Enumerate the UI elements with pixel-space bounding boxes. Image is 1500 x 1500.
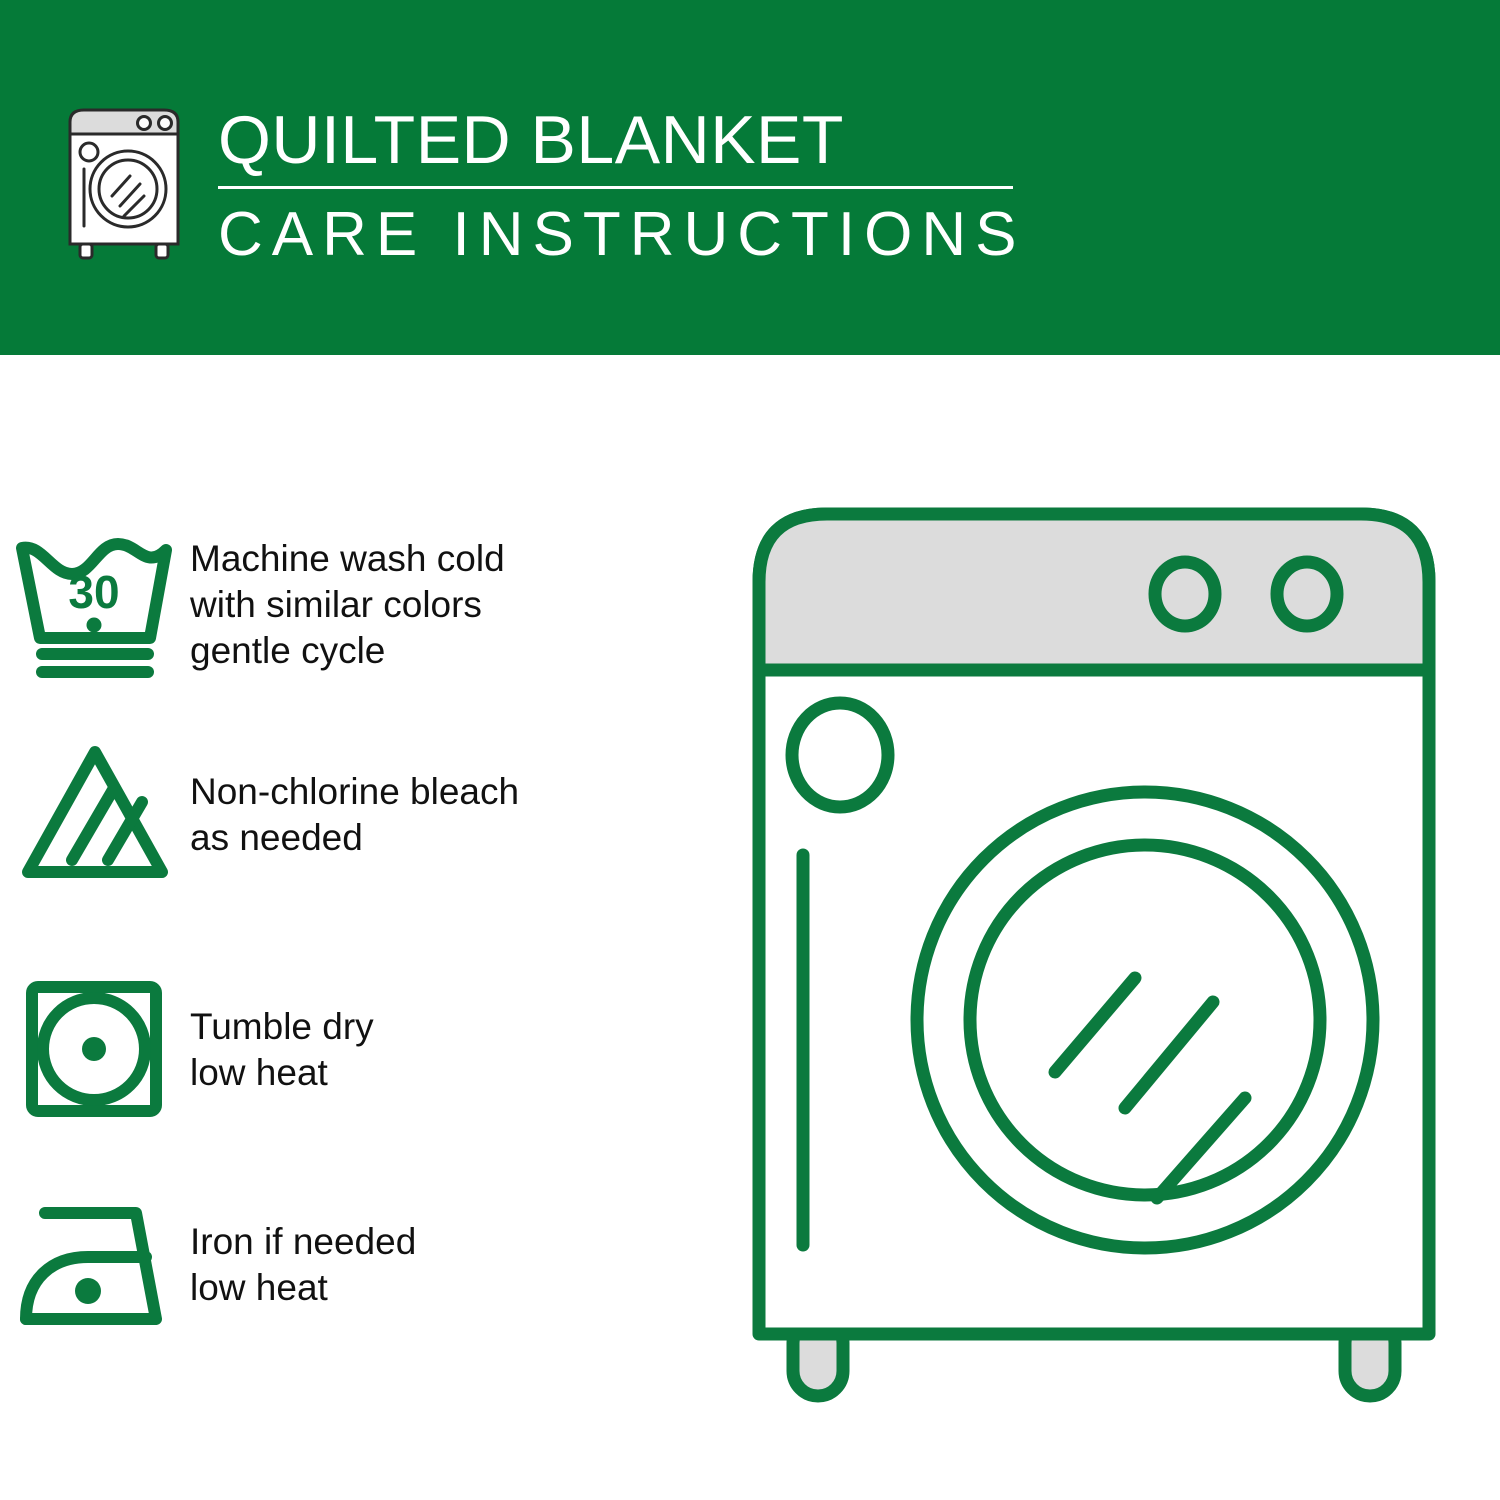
wash-temperature-value: 30 [68, 566, 119, 618]
washing-machine-icon [62, 104, 192, 264]
care-instructions-page: QUILTED BLANKET CARE INSTRUCTIONS 30 [0, 0, 1500, 1500]
care-item-label-tumble-dry: Tumble dry low heat [190, 1004, 374, 1096]
header-banner: QUILTED BLANKET CARE INSTRUCTIONS [0, 0, 1500, 355]
care-item-bleach: Non-chlorine bleach as needed [0, 730, 720, 900]
tumble-dry-low-icon [0, 975, 190, 1125]
care-item-label-iron: Iron if needed low heat [190, 1219, 416, 1311]
care-item-wash: 30 Machine wash cold with similar colors… [0, 520, 720, 690]
care-item-label-wash: Machine wash cold with similar colors ge… [190, 536, 505, 674]
page-subtitle: CARE INSTRUCTIONS [218, 199, 1018, 271]
care-item-tumble-dry: Tumble dry low heat [0, 965, 720, 1135]
iron-low-heat-icon [0, 1195, 190, 1335]
care-item-iron: Iron if needed low heat [0, 1185, 720, 1345]
front-load-washing-machine-illustration [745, 500, 1445, 1410]
header-title-group: QUILTED BLANKET CARE INSTRUCTIONS [218, 100, 1018, 271]
page-title: QUILTED BLANKET [218, 100, 1018, 180]
non-chlorine-bleach-triangle-icon [0, 740, 190, 890]
title-divider [218, 186, 1013, 189]
wash-tub-30-icon: 30 [0, 530, 190, 680]
care-item-label-bleach: Non-chlorine bleach as needed [190, 769, 519, 861]
